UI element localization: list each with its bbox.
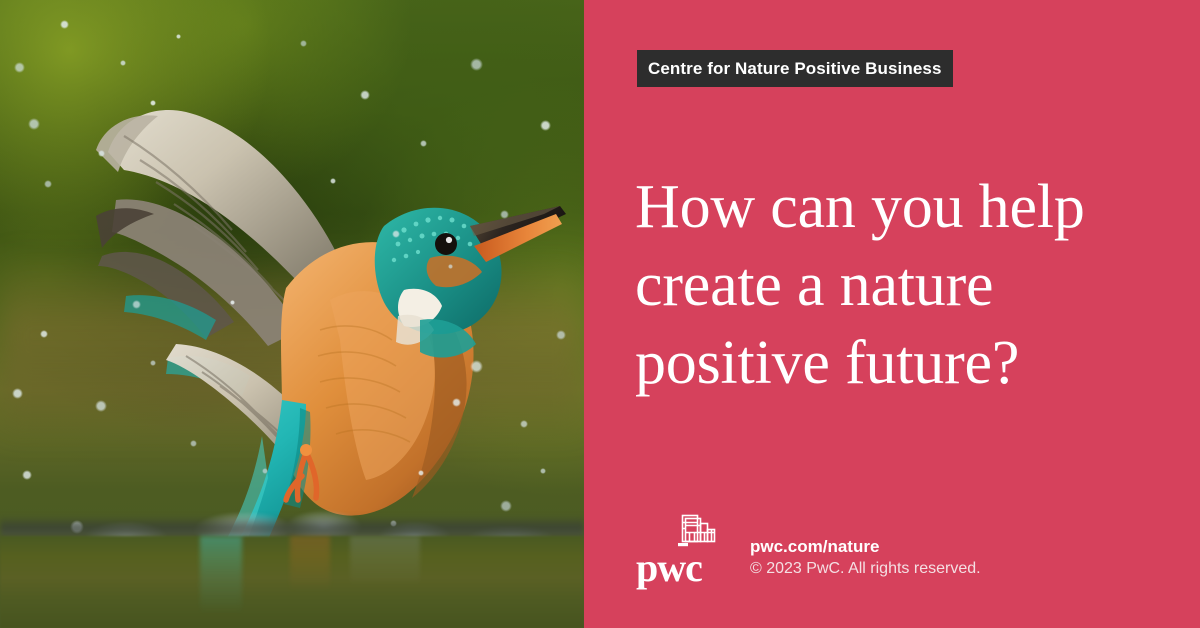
footer-copyright: © 2023 PwC. All rights reserved. (750, 558, 981, 580)
water-reflection (0, 536, 584, 628)
footer: pwc pwc.com/nature © 2023 PwC. All right… (636, 514, 981, 586)
headline-line-3: positive future? (635, 324, 1175, 402)
hero-photo (0, 0, 584, 628)
footer-text-block: pwc.com/nature © 2023 PwC. All rights re… (750, 536, 981, 586)
bird-beak (470, 206, 566, 262)
headline-line-2: create a nature (635, 246, 1175, 324)
pwc-logo: pwc (636, 514, 718, 586)
centre-badge-label: Centre for Nature Positive Business (648, 59, 942, 79)
centre-badge: Centre for Nature Positive Business (637, 50, 953, 87)
headline: How can you help create a nature positiv… (635, 168, 1175, 402)
headline-line-1: How can you help (635, 168, 1175, 246)
content-panel: Centre for Nature Positive Business How … (584, 0, 1200, 628)
footer-url[interactable]: pwc.com/nature (750, 536, 981, 558)
social-banner: Centre for Nature Positive Business How … (0, 0, 1200, 628)
pwc-wordmark: pwc (636, 548, 702, 588)
